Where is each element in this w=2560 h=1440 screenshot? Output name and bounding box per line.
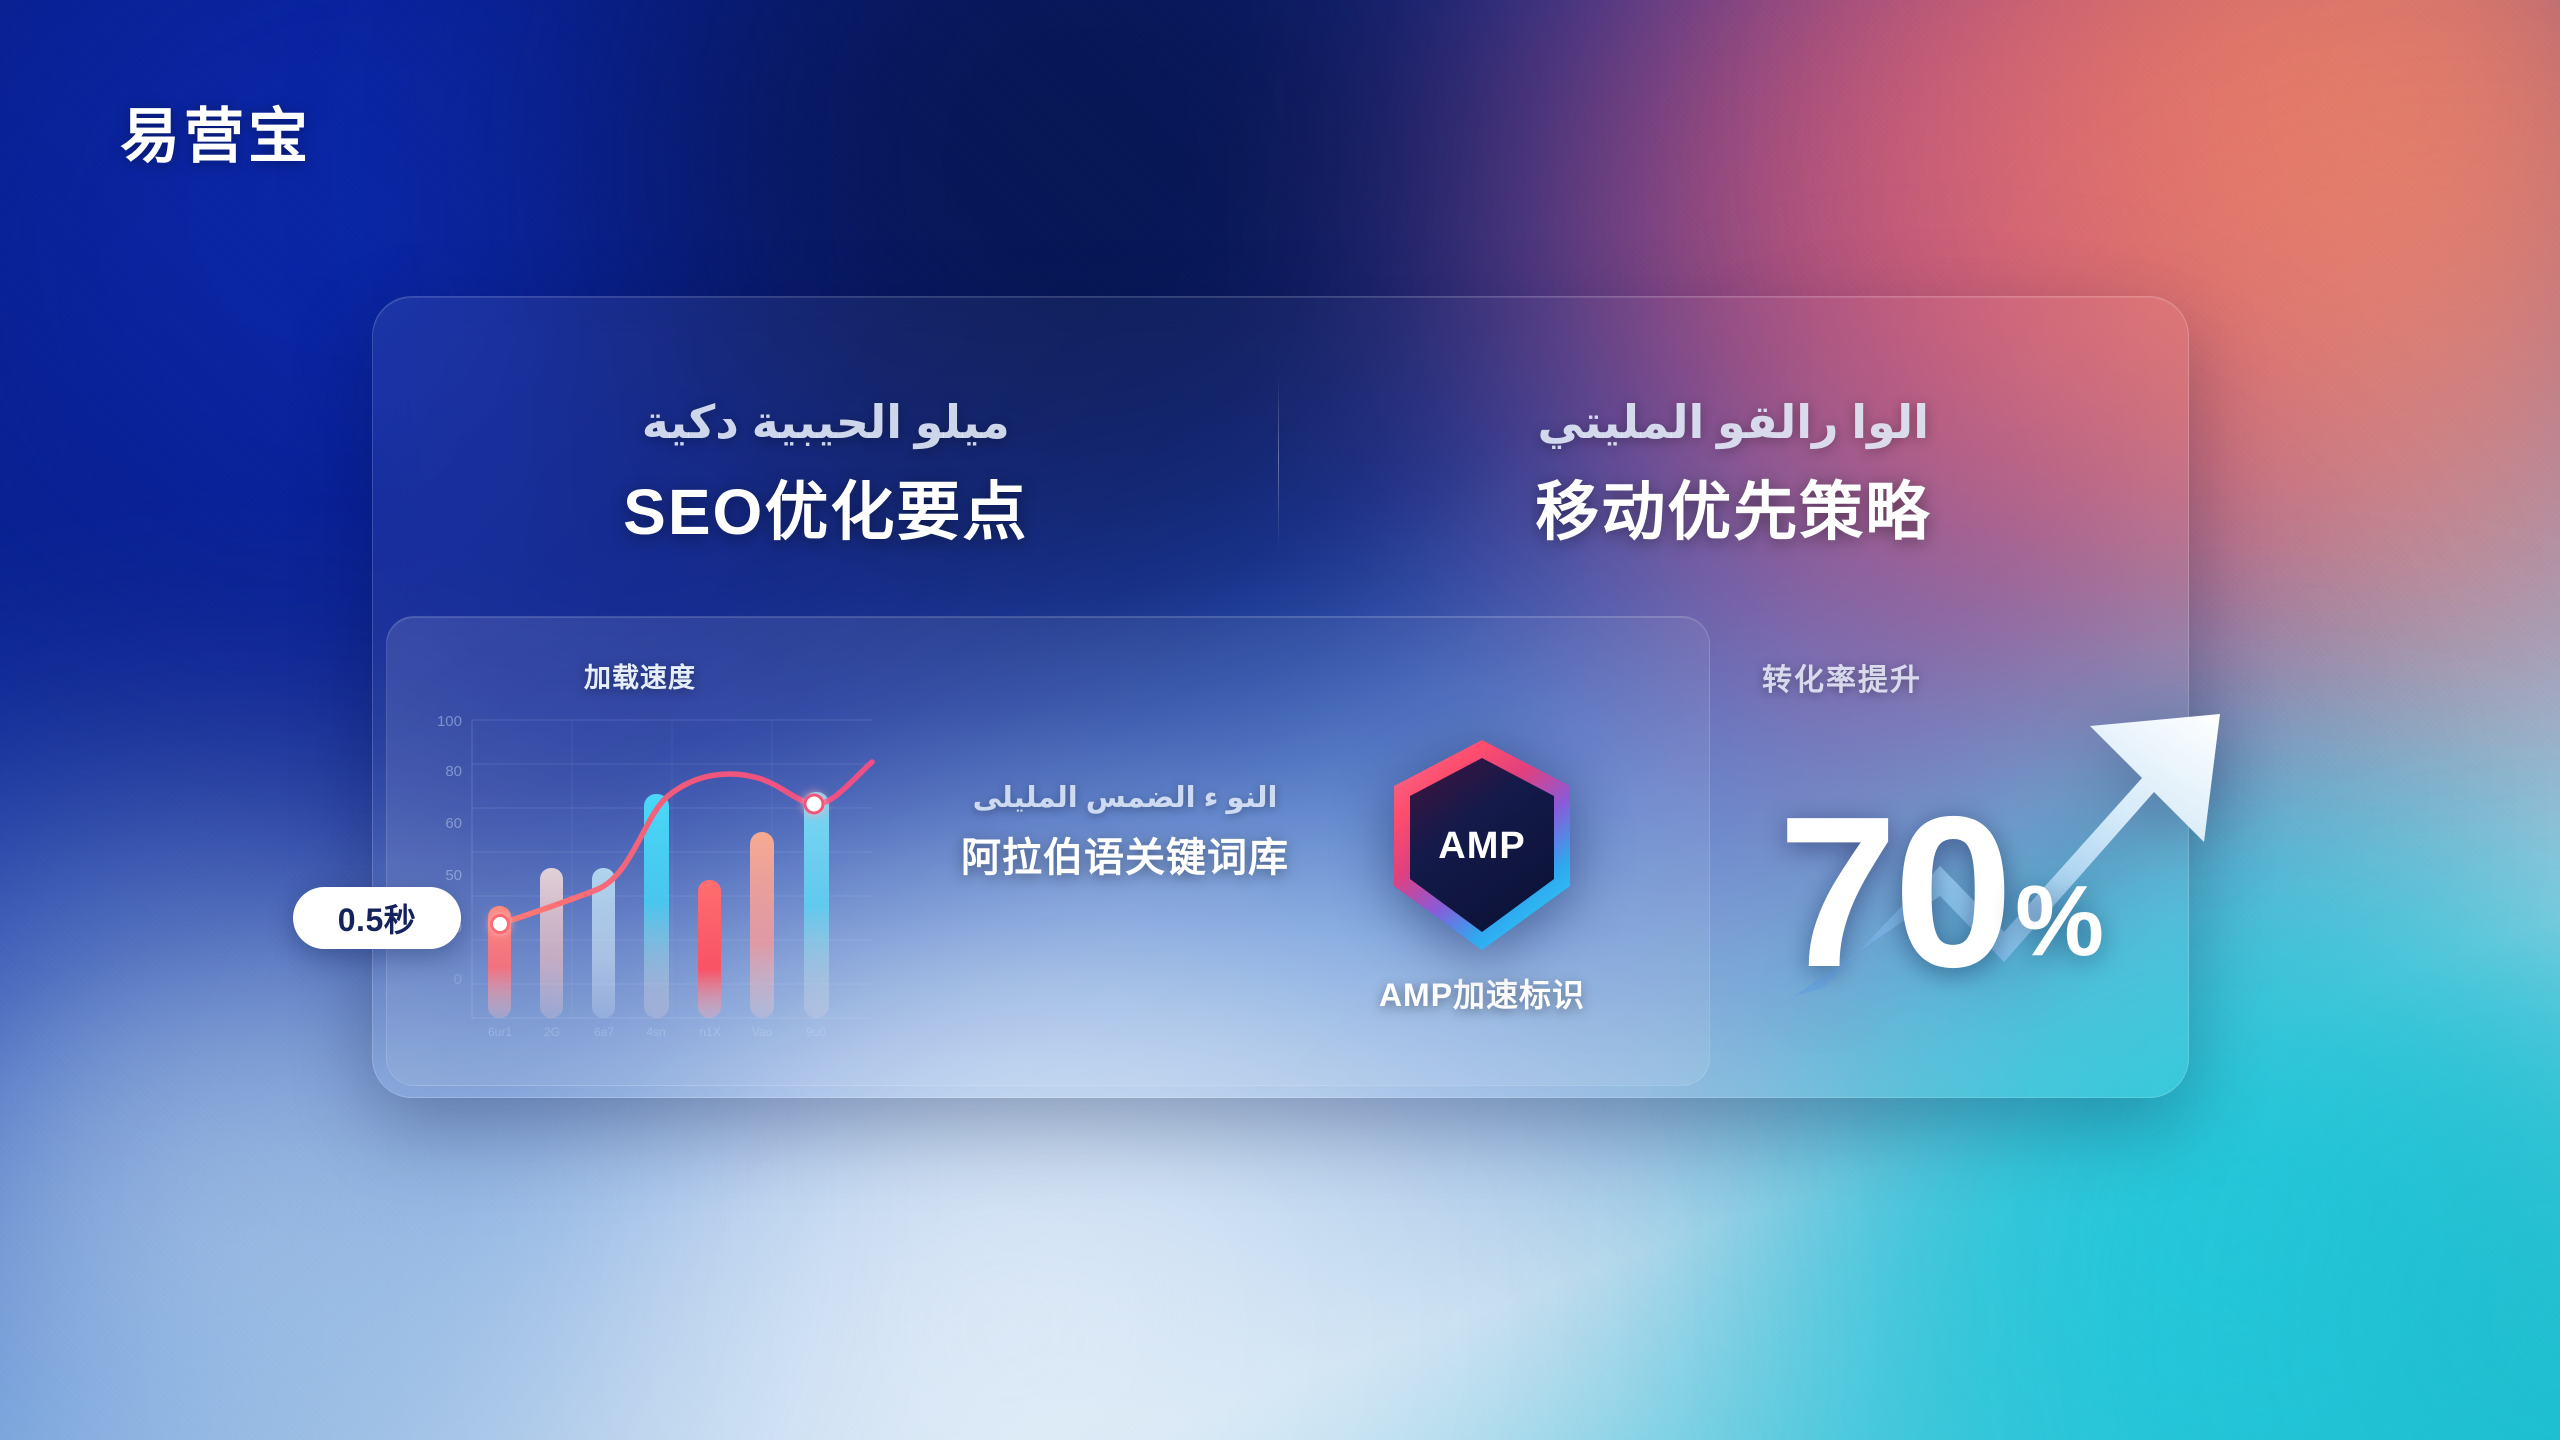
keyword-library-block: النو ء الضمس المليلى 阿拉伯语关键词库 bbox=[900, 780, 1350, 883]
stat-unit: % bbox=[2015, 871, 2104, 971]
amp-badge-block: AMP AMP加速标识 bbox=[1372, 736, 1592, 1016]
heading-left-chinese: SEO优化要点 bbox=[623, 461, 1028, 553]
keyword-arabic: النو ء الضمس المليلى bbox=[900, 780, 1350, 815]
amp-label: AMP加速标识 bbox=[1372, 970, 1592, 1016]
heading-right-arabic: الوا رالقو المليتي bbox=[1538, 397, 1929, 448]
svg-text:0: 0 bbox=[454, 971, 462, 988]
keyword-chinese: 阿拉伯语关键词库 bbox=[900, 825, 1350, 883]
heading-right: الوا رالقو المليتي 移动优先策略 bbox=[1280, 330, 2188, 620]
load-time-badge: 0.5秒 bbox=[293, 887, 461, 949]
loading-speed-chart: 加载速度 bbox=[400, 636, 880, 1066]
stat-value: 70 bbox=[1778, 800, 2009, 985]
load-time-badge-value: 0.5秒 bbox=[338, 895, 417, 941]
brand-logo: 易营宝 bbox=[120, 88, 312, 175]
heading-left-arabic: ميلو الحيبية دكية bbox=[642, 397, 1010, 448]
svg-text:AMP: AMP bbox=[1438, 825, 1525, 867]
slide-canvas: 易营宝 ميلو الحيبية دكية SEO优化要点 الوا رالقو… bbox=[0, 0, 2560, 1440]
svg-text:4sn: 4sn bbox=[646, 1025, 665, 1039]
svg-text:100: 100 bbox=[437, 713, 462, 730]
svg-text:9u0: 9u0 bbox=[806, 1025, 826, 1039]
headline-row: ميلو الحيبية دكية SEO优化要点 الوا رالقو الم… bbox=[372, 330, 2187, 620]
svg-text:50: 50 bbox=[445, 867, 462, 884]
svg-text:n1X: n1X bbox=[699, 1025, 720, 1039]
amp-shield-icon: AMP bbox=[1382, 736, 1582, 954]
svg-text:Vao: Vao bbox=[752, 1025, 773, 1039]
svg-text:6ur1: 6ur1 bbox=[488, 1025, 512, 1039]
heading-divider bbox=[1278, 372, 1279, 550]
chart-svg: 100 80 60 50 10 0 bbox=[400, 636, 880, 1066]
chart-x-axis-labels: 6ur1 2G 6a7 4sn n1X Vao 9u0 bbox=[488, 1025, 826, 1039]
svg-text:60: 60 bbox=[445, 815, 462, 832]
svg-text:80: 80 bbox=[445, 763, 462, 780]
stat-value-block: 70 % bbox=[1778, 800, 2104, 985]
heading-right-chinese: 移动优先策略 bbox=[1535, 461, 1931, 553]
svg-text:6a7: 6a7 bbox=[594, 1025, 614, 1039]
heading-left: ميلو الحيبية دكية SEO优化要点 bbox=[372, 330, 1280, 620]
svg-text:2G: 2G bbox=[544, 1025, 560, 1039]
stat-label: 转化率提升 bbox=[1762, 655, 1922, 699]
